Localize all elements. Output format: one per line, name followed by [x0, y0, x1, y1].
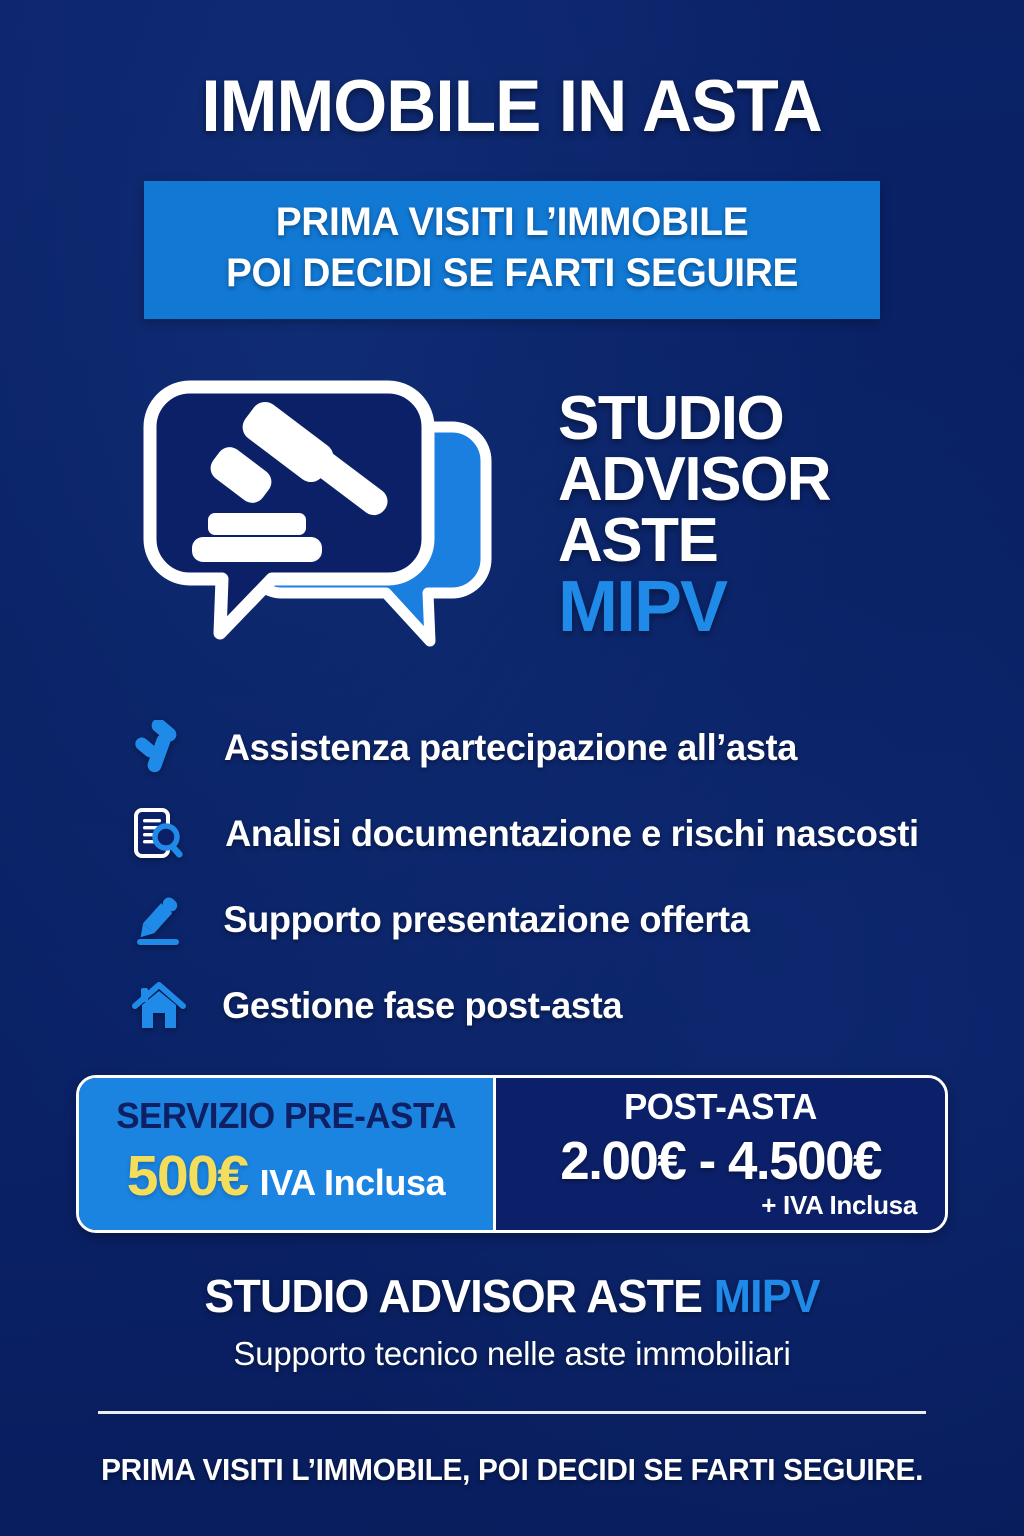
logo-block: STUDIO ADVISOR ASTE MIPV — [112, 365, 912, 665]
subheadline-line-1: PRIMA VISITI L’IMMOBILE — [165, 197, 860, 248]
list-item: Supporto presentazione offerta — [122, 877, 922, 963]
signature-brand: STUDIO ADVISOR ASTE MIPV — [204, 1269, 819, 1323]
page-title: IMMOBILE IN ASTA — [202, 70, 822, 143]
list-item-label: Assistenza partecipazione all’asta — [224, 727, 797, 769]
gavel-icon — [122, 720, 196, 776]
speech-bubbles-gavel-logo-icon — [132, 365, 532, 665]
signature-brand-main: STUDIO ADVISOR ASTE — [204, 1270, 713, 1322]
pricing-card-pre-asta: SERVIZIO PRE-ASTA 500€ IVA Inclusa — [79, 1078, 493, 1230]
post-asta-title: POST-ASTA — [624, 1086, 817, 1128]
horizontal-divider — [98, 1411, 926, 1414]
subheadline-line-2: POI DECIDI SE FARTI SEGUIRE — [165, 248, 860, 299]
feature-list: Assistenza partecipazione all’asta Anali… — [102, 705, 922, 1049]
pricing-panel: SERVIZIO PRE-ASTA 500€ IVA Inclusa POST-… — [76, 1075, 948, 1233]
poster-root: IMMOBILE IN ASTA PRIMA VISITI L’IMMOBILE… — [0, 0, 1024, 1536]
brand-line-2: ADVISOR — [558, 449, 830, 510]
pre-asta-vat-note: IVA Inclusa — [260, 1162, 446, 1204]
pen-signature-icon — [122, 892, 196, 948]
list-item-label: Analisi documentazione e rischi nascosti — [225, 813, 919, 855]
subheadline-banner: PRIMA VISITI L’IMMOBILE POI DECIDI SE FA… — [144, 181, 880, 319]
footer-slogan: PRIMA VISITI L’IMMOBILE, POI DECIDI SE F… — [101, 1452, 923, 1488]
pre-asta-price-row: 500€ IVA Inclusa — [127, 1143, 445, 1209]
brand-wordmark: STUDIO ADVISOR ASTE MIPV — [558, 388, 830, 643]
signature-brand-accent: MIPV — [714, 1270, 820, 1322]
brand-line-3: ASTE — [558, 510, 830, 571]
post-asta-amount: 2.00€ - 4.500€ — [560, 1130, 881, 1192]
pricing-card-post-asta: POST-ASTA 2.00€ - 4.500€ + IVA Inclusa — [493, 1078, 945, 1230]
house-icon — [122, 978, 196, 1034]
list-item: Analisi documentazione e rischi nascosti — [122, 791, 922, 877]
post-asta-vat-note: + IVA Inclusa — [761, 1190, 917, 1221]
document-search-icon — [122, 805, 196, 863]
list-item-label: Supporto presentazione offerta — [223, 899, 749, 941]
brand-line-4: MIPV — [558, 572, 830, 643]
pre-asta-amount: 500€ — [127, 1143, 248, 1209]
brand-line-1: STUDIO — [558, 388, 830, 449]
list-item: Gestione fase post-asta — [122, 963, 922, 1049]
list-item: Assistenza partecipazione all’asta — [122, 705, 922, 791]
list-item-label: Gestione fase post-asta — [222, 985, 622, 1027]
signature-block: STUDIO ADVISOR ASTE MIPV Supporto tecnic… — [195, 1269, 829, 1373]
pre-asta-title: SERVIZIO PRE-ASTA — [116, 1095, 456, 1137]
signature-tagline: Supporto tecnico nelle aste immobiliari — [195, 1335, 829, 1373]
